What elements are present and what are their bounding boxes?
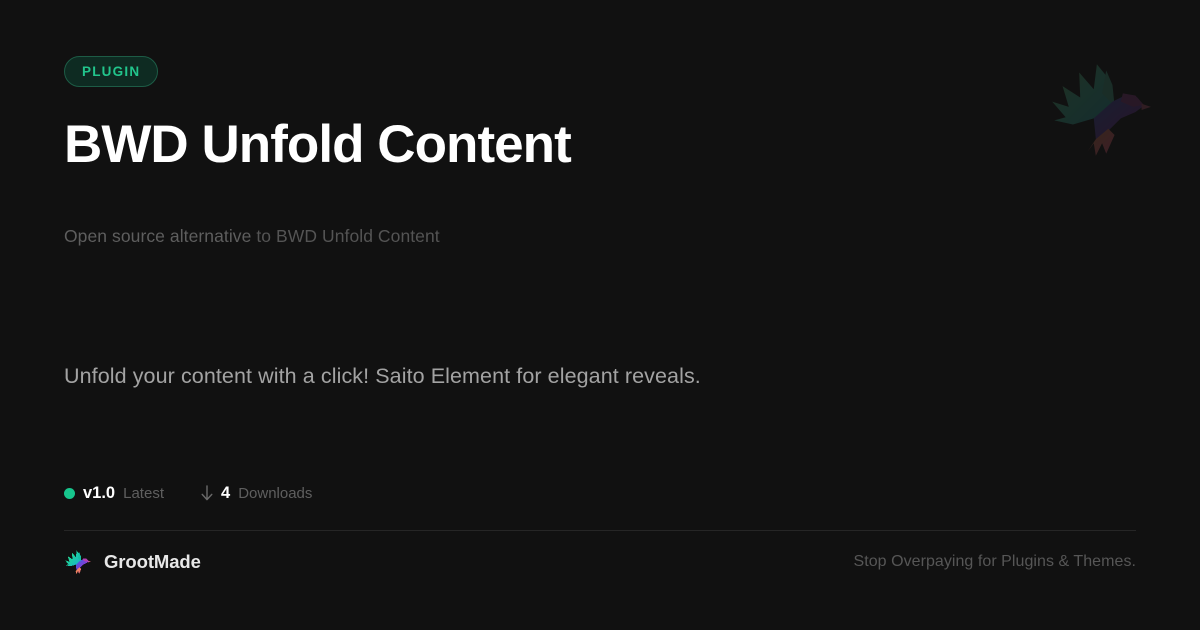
og-card: PLUGIN BWD Unfold Content Open source al… [0, 0, 1200, 630]
subtitle-suffix: to BWD Unfold Content [256, 226, 439, 246]
footer-divider [64, 530, 1136, 531]
grootmade-bird-logo-icon [64, 549, 91, 576]
stats-row: v1.0 Latest 4 Downloads [64, 484, 312, 503]
footer: GrootMade Stop Overpaying for Plugins & … [64, 544, 1136, 580]
downloads-label: Downloads [238, 485, 312, 502]
brand-name: GrootMade [104, 551, 201, 573]
page-title: BWD Unfold Content [64, 118, 571, 171]
stat-downloads: 4 Downloads [200, 484, 312, 503]
badge-row: PLUGIN [64, 56, 158, 87]
content-column: PLUGIN BWD Unfold Content Open source al… [64, 0, 1136, 630]
plugin-description: Unfold your content with a click! Saito … [64, 361, 1064, 392]
status-badge: PLUGIN [64, 56, 158, 87]
download-arrow-icon [200, 485, 214, 502]
brand: GrootMade [64, 549, 201, 576]
status-dot-icon [64, 488, 75, 499]
downloads-value: 4 [221, 484, 230, 503]
version-label: Latest [123, 485, 164, 502]
page-subtitle: Open source alternative to BWD Unfold Co… [64, 226, 440, 247]
footer-tagline: Stop Overpaying for Plugins & Themes. [853, 553, 1136, 571]
version-value: v1.0 [83, 484, 115, 503]
stat-version: v1.0 Latest [64, 484, 164, 503]
subtitle-prefix: Open source alternative [64, 226, 251, 246]
